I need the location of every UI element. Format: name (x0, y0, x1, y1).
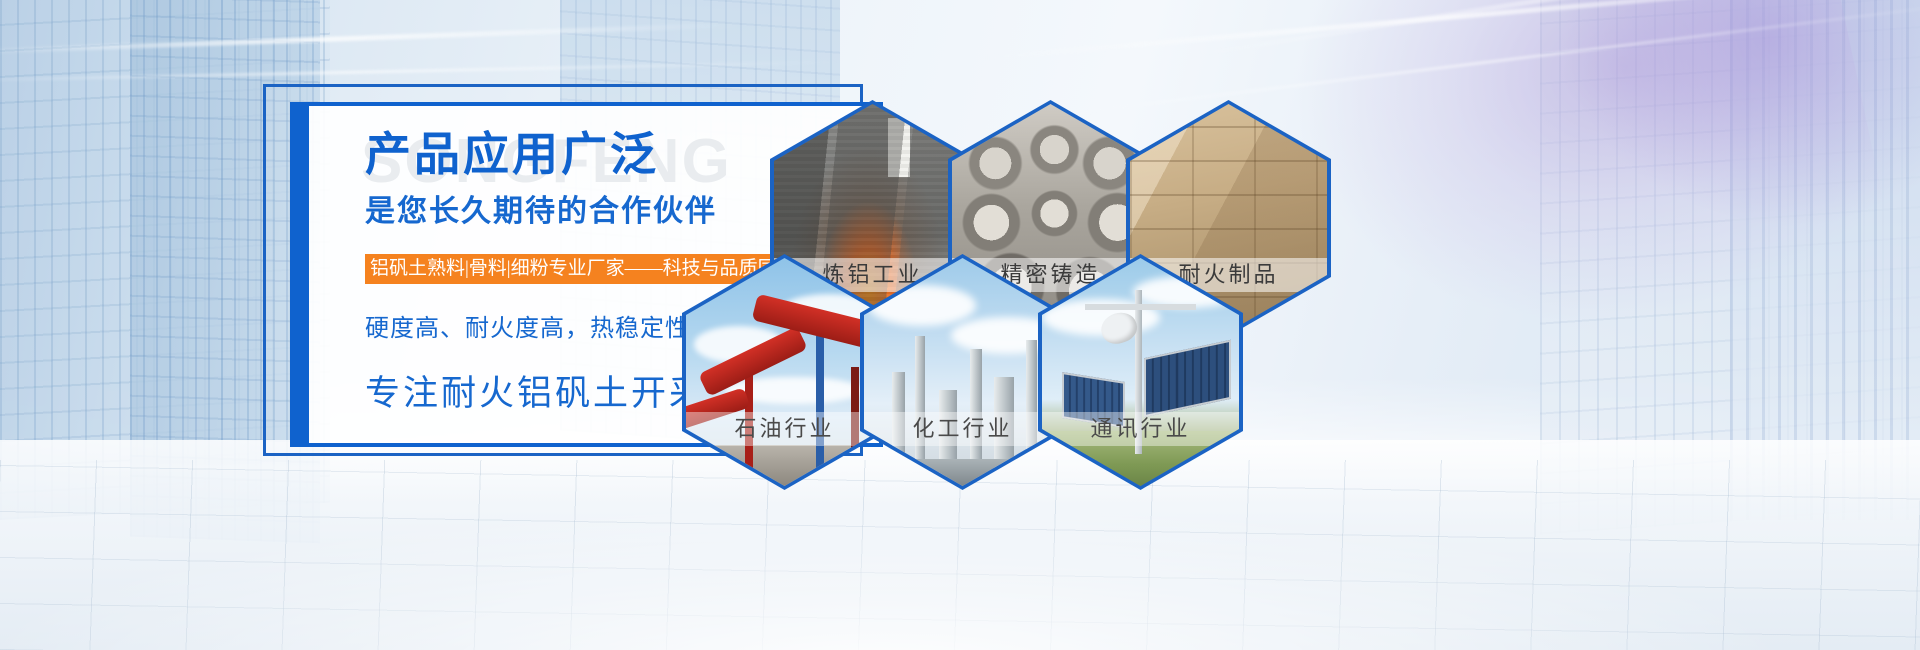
hex-label: 化工行业 (864, 412, 1061, 446)
hex-label: 石油行业 (686, 412, 883, 446)
industry-hexagon-grid: 炼铝工业 精密铸造 耐火制品 石油行业 (660, 78, 1280, 498)
hex-label: 通讯行业 (1042, 412, 1239, 446)
ground-glow (0, 480, 1920, 650)
